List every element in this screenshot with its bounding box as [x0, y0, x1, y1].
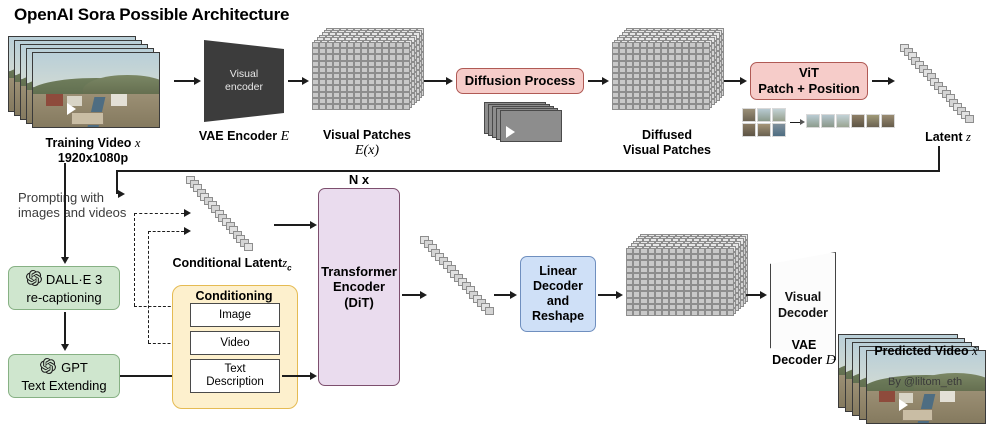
arrow-diffused-to-vit-line [724, 80, 740, 82]
image-patch [821, 114, 835, 128]
page-title: OpenAI Sora Possible Architecture [14, 5, 289, 25]
cube-cell [340, 104, 347, 110]
dashed-arrow-image-head [184, 209, 191, 217]
visual-patches-caption: Visual Patches [307, 128, 427, 143]
image-patch [757, 123, 771, 137]
arrow-vit-to-latent-line [872, 80, 888, 82]
conditional-latent-label: Conditional Latent [172, 256, 282, 270]
cube-cell [640, 104, 647, 110]
transformer-label-line3: (DiT) [344, 295, 374, 311]
openai-logo-icon [26, 270, 42, 290]
conditioning-video-box[interactable]: Video [190, 331, 280, 355]
cube-cell [354, 104, 361, 110]
dashed-line-video-vertical [148, 231, 149, 343]
dalle-label-line1: DALL·E 3 [46, 272, 102, 288]
cube-cell [661, 104, 668, 110]
arrow-dalle-to-gpt-head [61, 344, 69, 351]
vit-label-line1: ViT [799, 65, 819, 81]
conditioning-text-label-line1: Text [224, 363, 245, 376]
conditional-latent-sub: c [287, 264, 291, 273]
cube-cell [675, 104, 682, 110]
linear-decoder-box[interactable]: Linear Decoder and Reshape [520, 256, 596, 332]
arrow-patches-to-diffusion-head [446, 77, 453, 85]
cube-cell [662, 310, 669, 316]
visual-patches-expr: E(x) [307, 143, 427, 160]
cube-cell [648, 310, 655, 316]
cube-cell [703, 104, 710, 110]
image-patch [757, 108, 771, 122]
noise-frame-front [500, 110, 562, 142]
latent-z-strip [900, 44, 988, 136]
arrow-latent-to-lineardecoder-line [494, 294, 510, 296]
cube-cell [347, 104, 354, 110]
visual-encoder-label-line2: encoder [225, 81, 263, 94]
visual-patches-cube [312, 42, 422, 128]
cube-cell [647, 104, 654, 110]
arrow-vit-to-latent-head [888, 77, 895, 85]
cube-cell [312, 104, 319, 110]
n-times-label: N x [318, 172, 400, 187]
openai-logo-icon [40, 358, 56, 378]
visual-encoder-label-line1: Visual [225, 68, 263, 81]
arrow-encoder-to-patches-line [288, 80, 302, 82]
cube-cell [382, 104, 389, 110]
image-patch [772, 108, 786, 122]
image-patch [742, 123, 756, 137]
image-patch [836, 114, 850, 128]
arrow-diffusion-to-diffused-head [602, 77, 609, 85]
dashed-line-video-horizontal-top [148, 231, 184, 232]
cube-cell [668, 104, 675, 110]
diffused-patches-caption-l2: Visual Patches [607, 143, 727, 158]
dalle-box[interactable]: DALL·E 3 re-captioning [8, 266, 120, 310]
latent-z-caption: Latent z [900, 130, 996, 145]
diffusion-process-box[interactable]: Diffusion Process [456, 68, 584, 94]
arrow-patches-to-diffusion-line [424, 80, 446, 82]
vae-decoder-caption-l2: Decoder D [758, 353, 850, 370]
cube-cell [689, 104, 696, 110]
cube-cell [361, 104, 368, 110]
diffused-patches-caption-l1: Diffused [607, 128, 727, 143]
arrow-cube-to-visualdecoder-line [746, 294, 760, 296]
arrow-patchgrid-to-sequence-head [800, 119, 805, 125]
training-video-caption: Training Video x [18, 136, 168, 151]
vae-encoder-shape: Visual encoder [204, 40, 284, 122]
dalle-label-line2: re-captioning [26, 290, 101, 306]
predicted-video-caption: Predicted Video x̃ [856, 344, 996, 359]
dashed-arrow-video-head [184, 227, 191, 235]
conditioning-title: Conditioning [172, 289, 296, 304]
cube-cell [654, 104, 661, 110]
cube-cell [698, 310, 705, 316]
image-patch [772, 123, 786, 137]
image-patch [881, 114, 895, 128]
cube-cell [705, 310, 712, 316]
cube-cell [712, 310, 719, 316]
credit-label: By @liltom_eth [888, 376, 962, 388]
arrow-encoder-to-patches-head [302, 77, 309, 85]
cube-cell [965, 115, 974, 123]
arrow-transformer-to-latent-line [402, 294, 420, 296]
transformer-label-line1: Transformer [321, 264, 397, 280]
gpt-box[interactable]: GPT Text Extending [8, 354, 120, 398]
video-frame-front [32, 52, 160, 128]
output-patches-cube [626, 248, 744, 340]
cube-cell [691, 310, 698, 316]
conditional-latent-caption: Conditional Latentzc [152, 256, 312, 273]
conditioning-image-label: Image [219, 309, 251, 322]
diffusion-process-label: Diffusion Process [465, 73, 576, 89]
linear-decoder-label-line3: and [547, 294, 569, 309]
predicted-video-var: x̃ [972, 344, 978, 358]
gpt-label-line1: GPT [61, 360, 88, 376]
visual-decoder-label-line1: Visual [778, 290, 828, 306]
arrow-lineardecoder-to-cube-line [598, 294, 616, 296]
image-patch [866, 114, 880, 128]
cube-cell [326, 104, 333, 110]
output-latent-strip [420, 236, 512, 328]
cube-cell [696, 104, 703, 110]
arrow-latent-to-lineardecoder-head [510, 291, 517, 299]
arrow-video-to-encoder-head [194, 77, 201, 85]
cube-cell [727, 310, 734, 316]
feedback-line-vertical-right [938, 146, 940, 172]
arrow-conditioning-to-transformer-head [310, 372, 317, 380]
cube-cell [626, 310, 633, 316]
vae-decoder-var: D [826, 353, 836, 368]
training-video-stack [8, 36, 168, 132]
cube-cell [655, 310, 662, 316]
cube-cell [612, 104, 619, 110]
arrow-lineardecoder-to-cube-head [616, 291, 623, 299]
gpt-label-line2: Text Extending [21, 378, 106, 394]
cube-cell [389, 104, 396, 110]
visual-decoder-label-line2: Decoder [778, 306, 828, 322]
image-patch [742, 108, 756, 122]
latent-label: Latent [925, 130, 963, 144]
conditioning-image-box[interactable]: Image [190, 303, 280, 327]
cube-cell [684, 310, 691, 316]
play-icon [899, 399, 908, 411]
image-patch [851, 114, 865, 128]
arrow-video-to-encoder-line [174, 80, 194, 82]
conditioning-text-label-line2: Description [206, 376, 264, 389]
latent-var: z [966, 130, 971, 144]
image-patch [806, 114, 820, 128]
cube-cell [720, 310, 727, 316]
cube-cell [244, 243, 253, 251]
dashed-line-image-vertical [134, 213, 135, 306]
arrow-gpt-to-text-line [120, 375, 180, 377]
cube-cell [619, 104, 626, 110]
arrow-dalle-to-gpt-line [64, 312, 66, 344]
cube-cell [319, 104, 326, 110]
transformer-encoder-box[interactable]: Transformer Encoder (DiT) [318, 188, 400, 386]
linear-decoder-label-line2: Decoder [533, 279, 583, 294]
training-video-resolution: 1920x1080p [18, 151, 168, 166]
conditional-latent-strip [186, 176, 266, 260]
vae-encoder-label: VAE Encoder [199, 129, 277, 143]
prompting-label-line1: Prompting with [18, 190, 178, 205]
cube-cell [485, 307, 494, 315]
play-icon [506, 126, 515, 138]
vit-box[interactable]: ViT Patch + Position [750, 62, 868, 100]
play-icon [67, 103, 76, 115]
cube-cell [403, 104, 410, 110]
cube-cell [396, 104, 403, 110]
patch-sequence [806, 114, 900, 130]
arrow-cube-to-visualdecoder-head [760, 291, 767, 299]
cube-cell [676, 310, 683, 316]
arrow-video-to-dalle-head [61, 257, 69, 264]
arrow-conditioning-to-transformer-line [282, 375, 310, 377]
diffused-patches-cube [612, 42, 722, 128]
cube-cell [633, 104, 640, 110]
linear-decoder-label-line1: Linear [539, 264, 577, 279]
linear-decoder-label-line4: Reshape [532, 309, 584, 324]
diffused-frames-stack [484, 102, 570, 148]
vae-decoder-label: Decoder [772, 353, 822, 367]
vae-decoder-caption-l1: VAE [762, 338, 846, 353]
cube-cell [633, 310, 640, 316]
cube-cell [375, 104, 382, 110]
conditioning-text-box[interactable]: Text Description [190, 359, 280, 393]
arrow-patchgrid-to-sequence-line [790, 122, 800, 123]
arrow-condlatent-to-transformer-line [274, 224, 310, 226]
transformer-label-line2: Encoder [333, 279, 385, 295]
vae-encoder-var: E [281, 129, 290, 144]
feedback-line-horizontal [116, 170, 940, 172]
cube-cell [333, 104, 340, 110]
arrow-diffused-to-vit-head [740, 77, 747, 85]
cube-cell [682, 104, 689, 110]
training-video-label: Training Video [46, 136, 132, 150]
cube-cell [368, 104, 375, 110]
arrow-video-to-dalle-line [64, 163, 66, 257]
cube-cell [640, 310, 647, 316]
arrow-diffusion-to-diffused-line [588, 80, 602, 82]
arrow-condlatent-to-transformer-head [310, 221, 317, 229]
patch-grid [742, 108, 788, 138]
dashed-line-image-horizontal-top [134, 213, 184, 214]
predicted-video-label: Predicted Video [874, 344, 968, 358]
training-video-var: x [135, 136, 141, 150]
cube-cell [626, 104, 633, 110]
vae-encoder-caption: VAE Encoder E [194, 129, 294, 146]
conditioning-video-label: Video [220, 337, 249, 350]
vit-label-line2: Patch + Position [758, 81, 860, 97]
cube-cell [669, 310, 676, 316]
